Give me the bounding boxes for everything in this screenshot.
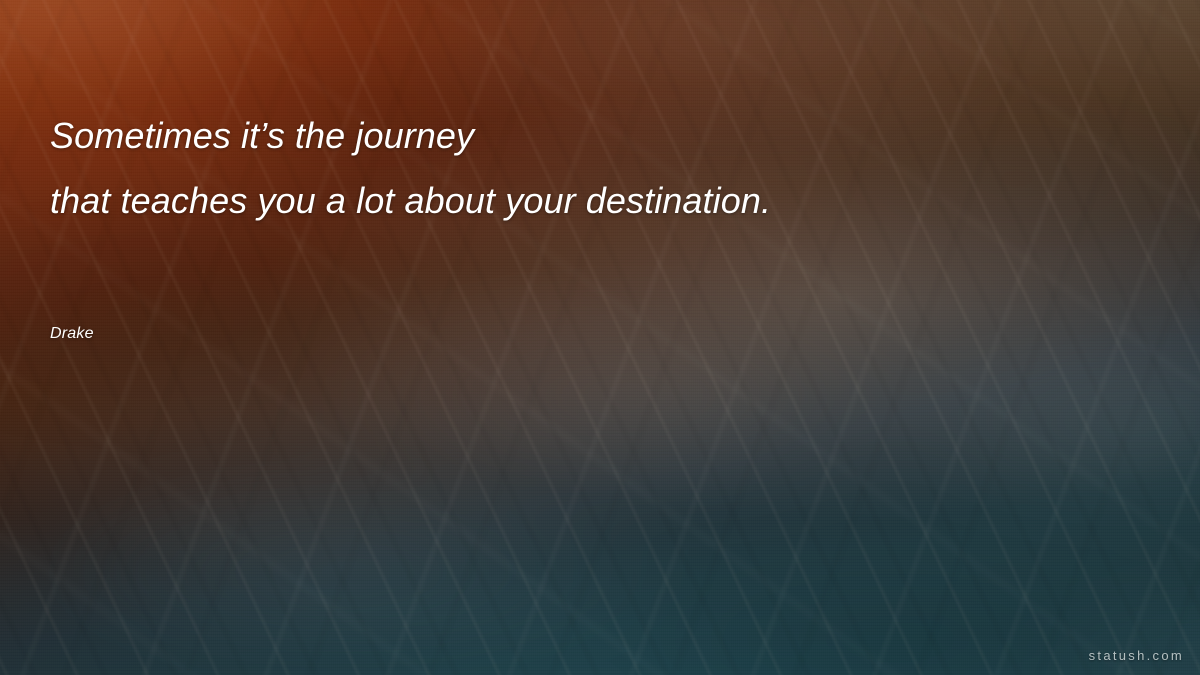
quote-line-2: that teaches you a lot about your destin… bbox=[50, 183, 1050, 219]
card-content: Sometimes it’s the journey that teaches … bbox=[0, 0, 1200, 675]
site-watermark: statush.com bbox=[1089, 648, 1184, 663]
quote-line-1: Sometimes it’s the journey bbox=[50, 118, 1050, 154]
quote-author: Drake bbox=[50, 325, 94, 343]
quote-text-block: Sometimes it’s the journey that teaches … bbox=[50, 118, 1050, 219]
quote-card: Sometimes it’s the journey that teaches … bbox=[0, 0, 1200, 675]
